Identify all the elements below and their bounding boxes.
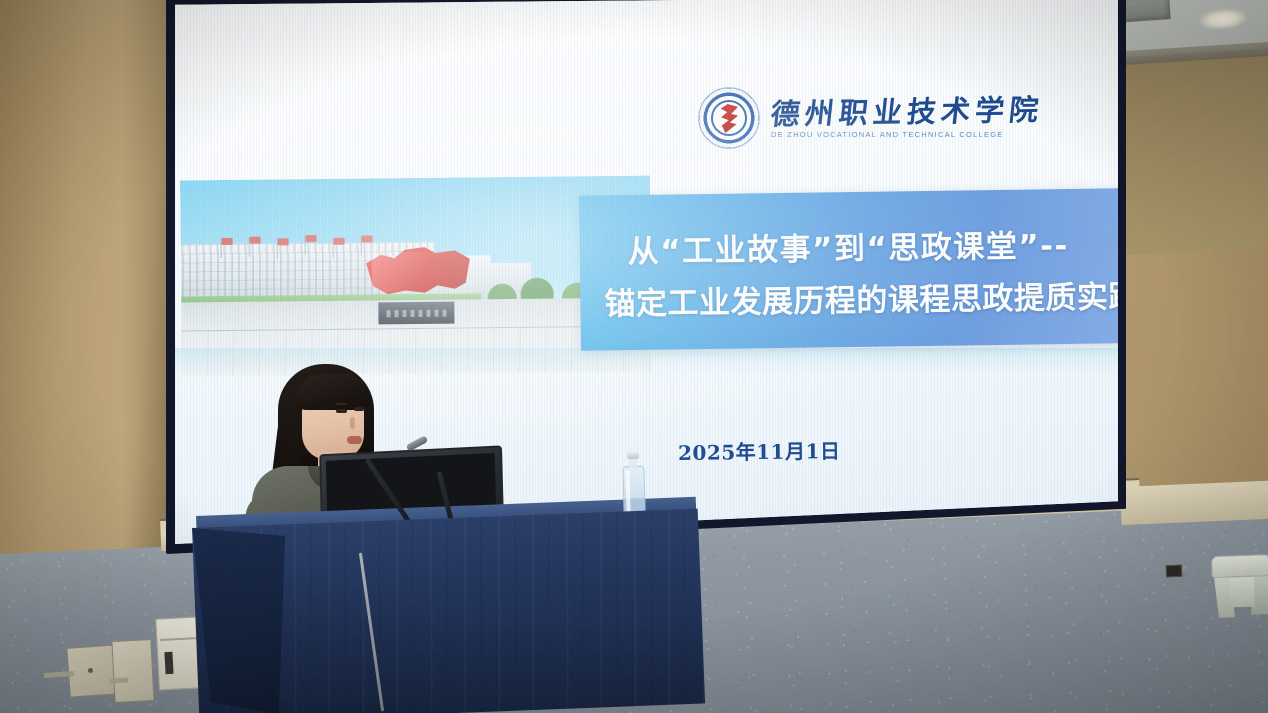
sculpture-highlight — [372, 252, 458, 293]
sculpture-plinth-text — [386, 310, 446, 318]
panel-slot — [164, 652, 173, 674]
flag-icon — [250, 237, 261, 244]
photo-sculpture — [356, 239, 477, 312]
presenter-mouth — [347, 436, 362, 444]
stool-seat — [1211, 554, 1268, 578]
presentation-photo-scene: 德州职业技术学院 DE ZHOU VOCATIONAL AND TECHNICA… — [0, 0, 1268, 713]
box-screw — [88, 668, 93, 673]
presenter-nose — [350, 417, 355, 429]
presenter-eye — [336, 409, 347, 413]
baseboard-right — [1120, 480, 1268, 525]
college-name-block: 德州职业技术学院 DE ZHOU VOCATIONAL AND TECHNICA… — [771, 97, 1043, 138]
college-name-en: DE ZHOU VOCATIONAL AND TECHNICAL COLLEGE — [771, 130, 1043, 139]
slide-date: 2025年11月1日 — [678, 435, 841, 466]
slide-title-line-2: 锚定工业发展历程的课程思政提质实践 — [604, 271, 1118, 323]
presenter-eye-secondary — [354, 407, 364, 411]
presenter-eyebrow — [335, 403, 347, 405]
presenter-fringe — [296, 374, 370, 410]
stool-body — [1230, 577, 1255, 608]
electrical-box-secondary — [111, 639, 154, 703]
flag-icon — [306, 235, 317, 242]
flag-icon — [278, 238, 289, 245]
photo-flag-row — [215, 234, 375, 258]
flag-icon — [334, 238, 345, 245]
slide-title-line-1: 从“工业故事”到“思政课堂”-- — [603, 219, 1118, 271]
flag-icon — [222, 238, 233, 245]
title-text-block: 从“工业故事”到“思政课堂”-- 锚定工业发展历程的课程思政提质实践 — [589, 192, 1118, 349]
plastic-stool — [1211, 554, 1268, 620]
college-logo: 德州职业技术学院 DE ZHOU VOCATIONAL AND TECHNICA… — [699, 80, 1059, 156]
bottle-cap — [627, 452, 639, 459]
wall-outlet-icon — [1166, 565, 1183, 578]
college-name-cn: 德州职业技术学院 — [769, 95, 1045, 130]
college-seal-icon — [699, 88, 759, 148]
